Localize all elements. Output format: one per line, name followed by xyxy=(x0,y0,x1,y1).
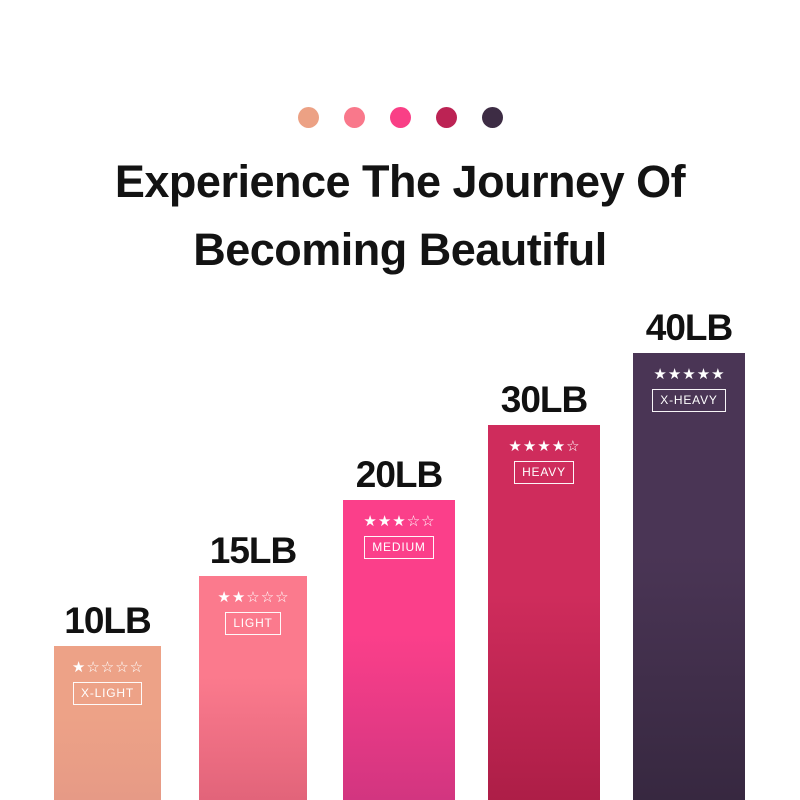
bar-group: 15LB★★☆☆☆LIGHT xyxy=(199,576,307,800)
bar-fill: ★★★★☆HEAVY xyxy=(488,425,600,800)
star-filled-icon: ★ xyxy=(72,660,85,675)
star-empty-icon: ☆ xyxy=(566,439,579,454)
bar-meta: ★★★★★X-HEAVY xyxy=(633,367,745,412)
star-filled-icon: ★ xyxy=(217,590,230,605)
bar-weight-label: 40LB xyxy=(646,307,732,349)
bar-weight-label: 10LB xyxy=(64,600,150,642)
bar-group: 20LB★★★☆☆MEDIUM xyxy=(343,500,455,800)
bar-group: 40LB★★★★★X-HEAVY xyxy=(633,353,745,800)
bar-group: 10LB★☆☆☆☆X-LIGHT xyxy=(54,646,161,800)
star-filled-icon: ★ xyxy=(523,439,536,454)
star-empty-icon: ☆ xyxy=(407,514,420,529)
star-filled-icon: ★ xyxy=(363,514,376,529)
star-filled-icon: ★ xyxy=(552,439,565,454)
resistance-band-bar-chart: 10LB★☆☆☆☆X-LIGHT15LB★★☆☆☆LIGHT20LB★★★☆☆M… xyxy=(0,0,800,800)
star-filled-icon: ★ xyxy=(378,514,391,529)
bar-meta: ★★☆☆☆LIGHT xyxy=(199,590,307,635)
resistance-level-badge: MEDIUM xyxy=(364,536,433,559)
star-empty-icon: ☆ xyxy=(130,660,143,675)
resistance-level-badge: X-LIGHT xyxy=(73,682,142,705)
bar-fill: ★★☆☆☆LIGHT xyxy=(199,576,307,800)
star-empty-icon: ☆ xyxy=(275,590,288,605)
star-rating: ★★★★★ xyxy=(653,367,724,382)
bar-meta: ★☆☆☆☆X-LIGHT xyxy=(54,660,161,705)
star-filled-icon: ★ xyxy=(682,367,695,382)
star-filled-icon: ★ xyxy=(653,367,666,382)
bar-meta: ★★★★☆HEAVY xyxy=(488,439,600,484)
star-filled-icon: ★ xyxy=(232,590,245,605)
star-filled-icon: ★ xyxy=(537,439,550,454)
resistance-level-badge: X-HEAVY xyxy=(652,389,725,412)
star-filled-icon: ★ xyxy=(668,367,681,382)
bar-weight-label: 15LB xyxy=(210,530,296,572)
resistance-level-badge: HEAVY xyxy=(514,461,574,484)
star-rating: ★★★★☆ xyxy=(508,439,579,454)
infographic-canvas: Experience The Journey Of Becoming Beaut… xyxy=(0,0,800,800)
resistance-level-badge: LIGHT xyxy=(225,612,280,635)
bar-group: 30LB★★★★☆HEAVY xyxy=(488,425,600,800)
star-rating: ★★★☆☆ xyxy=(363,514,434,529)
star-filled-icon: ★ xyxy=(508,439,521,454)
star-empty-icon: ☆ xyxy=(115,660,128,675)
bar-meta: ★★★☆☆MEDIUM xyxy=(343,514,455,559)
star-empty-icon: ☆ xyxy=(246,590,259,605)
star-filled-icon: ★ xyxy=(392,514,405,529)
star-empty-icon: ☆ xyxy=(421,514,434,529)
bar-weight-label: 30LB xyxy=(501,379,587,421)
star-filled-icon: ★ xyxy=(697,367,710,382)
star-rating: ★★☆☆☆ xyxy=(217,590,288,605)
star-rating: ★☆☆☆☆ xyxy=(72,660,143,675)
star-empty-icon: ☆ xyxy=(86,660,99,675)
star-filled-icon: ★ xyxy=(711,367,724,382)
bar-weight-label: 20LB xyxy=(356,454,442,496)
bar-fill: ★☆☆☆☆X-LIGHT xyxy=(54,646,161,800)
star-empty-icon: ☆ xyxy=(261,590,274,605)
star-empty-icon: ☆ xyxy=(101,660,114,675)
bar-fill: ★★★★★X-HEAVY xyxy=(633,353,745,800)
bar-fill: ★★★☆☆MEDIUM xyxy=(343,500,455,800)
